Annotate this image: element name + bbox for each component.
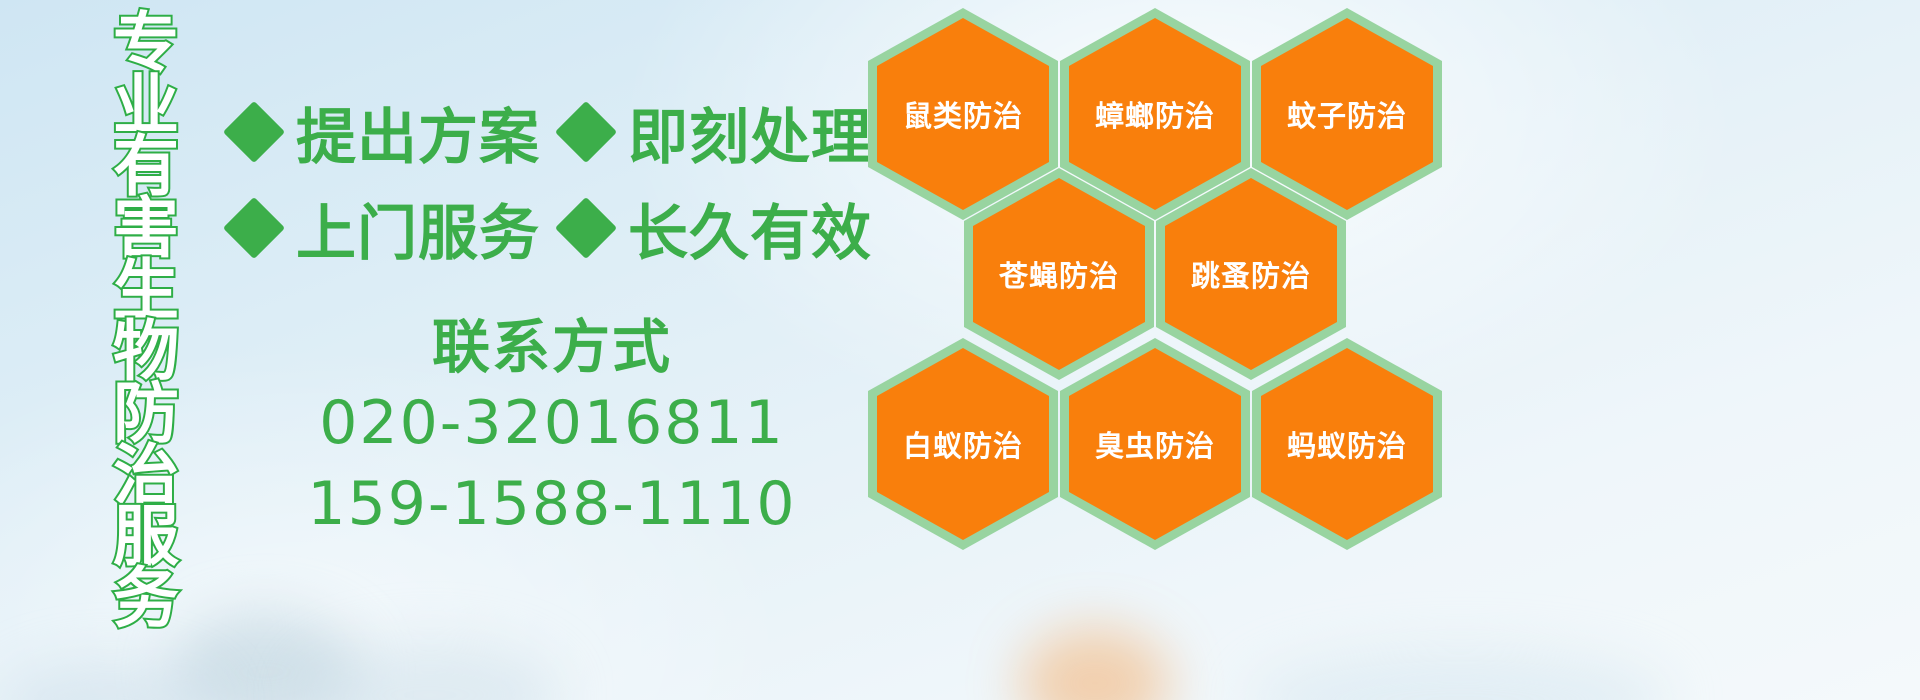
feature-list: 提出方案 即刻处理 上门服务 长久有效 [232,84,872,276]
feature-label: 长久有效 [628,185,872,272]
contact-title: 联系方式 [232,316,872,380]
contact-block: 联系方式 020-32016811 159-1588-1110 [232,316,872,542]
service-hex-ant[interactable]: 蚂蚁防治 [1252,338,1442,550]
service-label: 蟑螂防治 [1095,93,1215,135]
background-blur-blob [1250,650,1670,700]
service-hex-termite[interactable]: 白蚁防治 [868,338,1058,550]
service-label: 蚂蚁防治 [1287,423,1407,465]
hex-inner: 蟑螂防治 [1069,18,1241,210]
hex-inner: 鼠类防治 [877,18,1049,210]
vertical-title-char: 务 [113,567,179,632]
feature-row: 上门服务 长久有效 [232,180,872,276]
vertical-title: 专 业 有 害 生 物 防 治 服 务 [104,12,188,629]
service-label: 跳蚤防治 [1191,253,1311,295]
phone-number-mobile[interactable]: 159-1588-1110 [232,467,872,542]
hex-inner: 臭虫防治 [1069,348,1241,540]
feature-label: 提出方案 [296,89,540,176]
feature-item-onsite-service: 上门服务 [232,185,540,272]
feature-label: 即刻处理 [628,89,872,176]
hex-inner: 跳蚤防治 [1165,178,1337,370]
service-label: 白蚁防治 [903,423,1023,465]
hex-inner: 苍蝇防治 [973,178,1145,370]
hex-inner: 白蚁防治 [877,348,1049,540]
service-label: 臭虫防治 [1095,423,1215,465]
hex-inner: 蚊子防治 [1261,18,1433,210]
feature-item-long-lasting: 长久有效 [564,185,872,272]
diamond-bullet-icon [555,101,617,163]
feature-item-propose-plan: 提出方案 [232,89,540,176]
diamond-bullet-icon [223,197,285,259]
service-hex-bedbug[interactable]: 臭虫防治 [1060,338,1250,550]
feature-row: 提出方案 即刻处理 [232,84,872,180]
service-honeycomb: 鼠类防治 蟑螂防治 蚊子防治 苍蝇防治 跳蚤防治 白蚁防治 [862,0,1462,570]
phone-number-landline[interactable]: 020-32016811 [232,386,872,461]
background-blur-blob-orange [1020,628,1170,700]
feature-label: 上门服务 [296,185,540,272]
service-label: 蚊子防治 [1287,93,1407,135]
background-blur-blob [0,660,220,700]
background-blur-blob [300,640,560,700]
background-blur-blob [170,612,360,700]
hex-inner: 蚂蚁防治 [1261,348,1433,540]
diamond-bullet-icon [223,101,285,163]
service-label: 苍蝇防治 [999,253,1119,295]
feature-item-immediate-handling: 即刻处理 [564,89,872,176]
service-label: 鼠类防治 [903,93,1023,135]
pest-control-banner: 专 业 有 害 生 物 防 治 服 务 提出方案 即刻处理 上门服务 [0,0,1920,700]
diamond-bullet-icon [555,197,617,259]
